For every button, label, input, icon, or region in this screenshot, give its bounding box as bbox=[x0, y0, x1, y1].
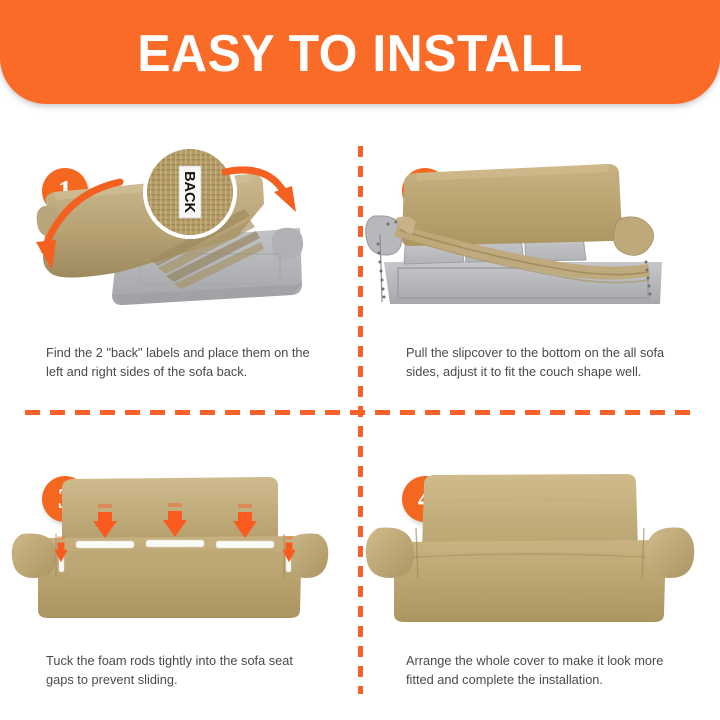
step-caption-2: Pull the slipcover to the bottom on the … bbox=[406, 344, 670, 381]
sofa-fully-covered-illustration bbox=[360, 442, 720, 642]
steps-grid: 1 bbox=[0, 104, 720, 720]
sofa-partially-covered-illustration bbox=[360, 134, 720, 334]
sofa-back-label-illustration: BACK bbox=[0, 134, 360, 334]
step-caption-4: Arrange the whole cover to make it look … bbox=[406, 652, 670, 689]
page-title: EASY TO INSTALL bbox=[137, 24, 582, 80]
step-caption-1: Find the 2 "back" labels and place them … bbox=[46, 344, 310, 381]
step-card-3: 3 bbox=[0, 412, 360, 720]
svg-text:BACK: BACK bbox=[181, 171, 197, 213]
step-card-1: 1 bbox=[0, 104, 360, 412]
sofa-foam-rods-illustration bbox=[0, 442, 360, 642]
step-caption-3: Tuck the foam rods tightly into the sofa… bbox=[46, 652, 310, 689]
step-card-2: 2 bbox=[360, 104, 720, 412]
step-card-4: 4 bbox=[360, 412, 720, 720]
header-banner: EASY TO INSTALL bbox=[0, 0, 720, 104]
